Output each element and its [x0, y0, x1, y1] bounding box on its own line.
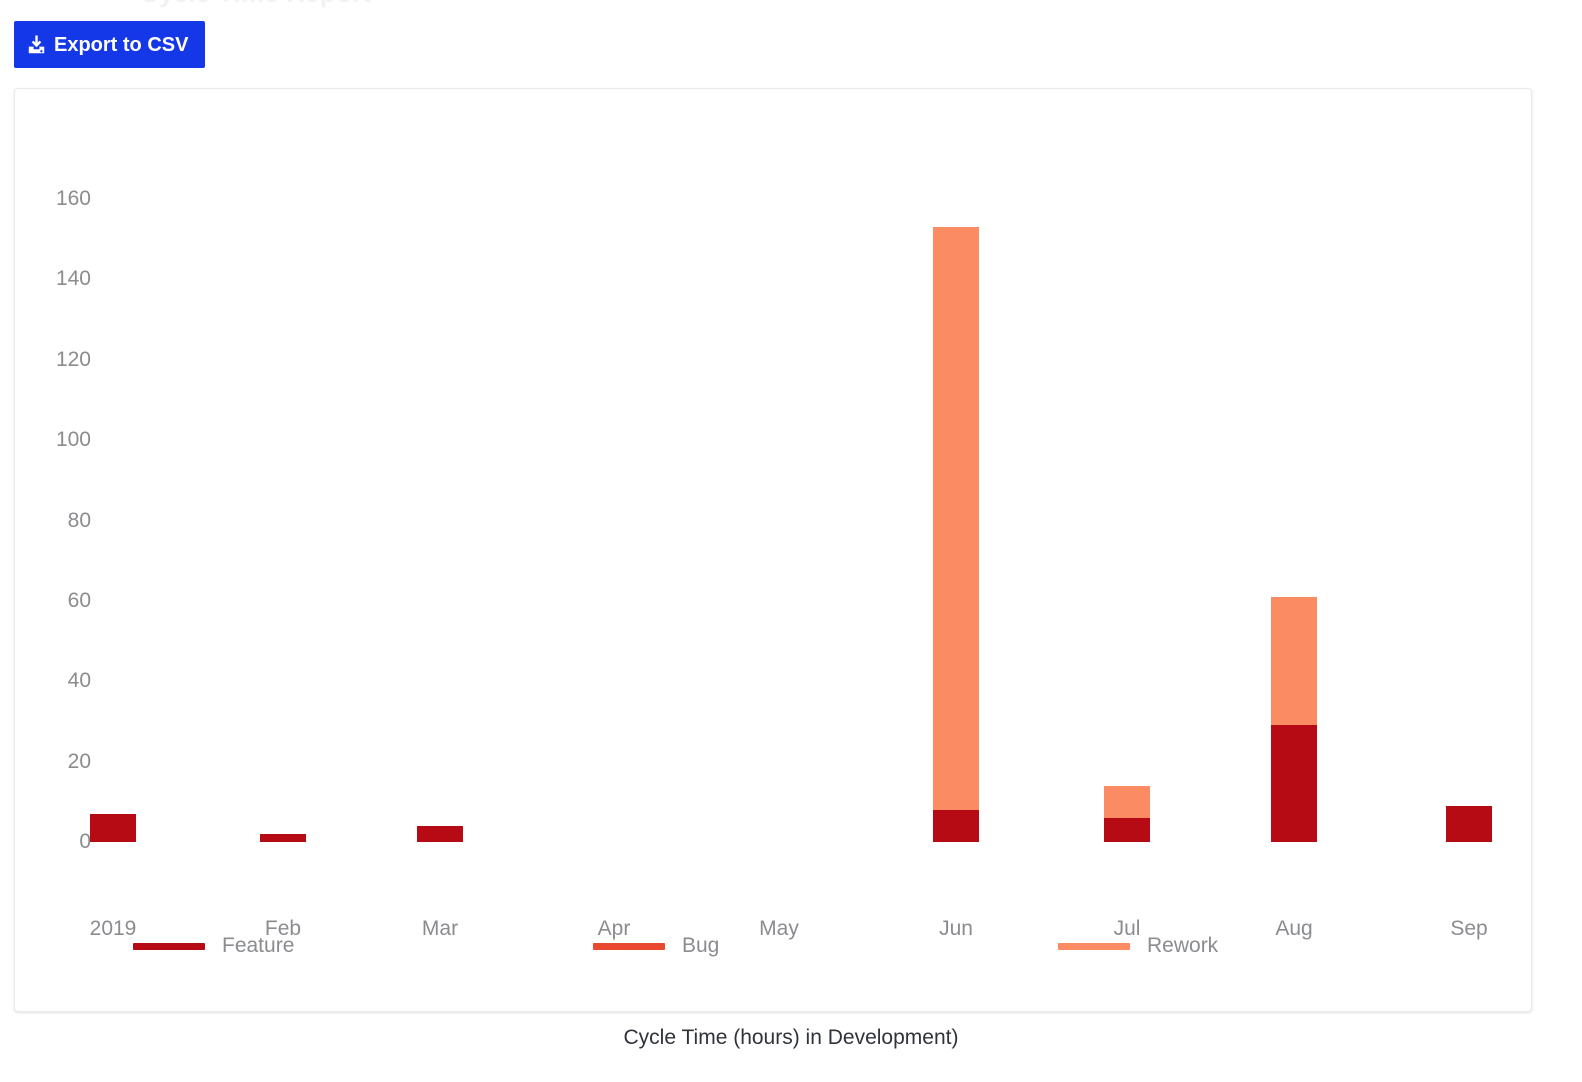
y-axis-tick-labels: 020406080100120140160	[15, 89, 91, 1013]
bar-segment-feature[interactable]	[260, 834, 306, 842]
bar-2019[interactable]	[90, 814, 136, 842]
y-axis-tick: 160	[15, 187, 91, 211]
y-axis-tick: 140	[15, 267, 91, 291]
legend-item-bug[interactable]: Bug	[593, 934, 719, 958]
y-axis-tick: 60	[15, 589, 91, 613]
legend-item-rework[interactable]: Rework	[1058, 934, 1218, 958]
bar-segment-feature[interactable]	[1271, 725, 1317, 842]
app-root: Cycle Time Report Export to CSV 02040608…	[0, 0, 1582, 1082]
chart-caption: Cycle Time (hours) in Development)	[0, 1026, 1582, 1050]
chart-card: 020406080100120140160 2019FebMarAprMayJu…	[14, 88, 1532, 1012]
bar-chart-plot: 020406080100120140160 2019FebMarAprMayJu…	[15, 89, 1533, 1013]
page-title: Cycle Time Report	[140, 0, 371, 8]
legend-label-rework: Rework	[1147, 934, 1218, 958]
bar-mar[interactable]	[417, 826, 463, 842]
export-to-csv-label: Export to CSV	[54, 35, 188, 55]
legend-label-feature: Feature	[222, 934, 294, 958]
bar-feb[interactable]	[260, 834, 306, 842]
legend-swatch-bug	[593, 943, 665, 950]
legend-label-bug: Bug	[682, 934, 719, 958]
bar-segment-feature[interactable]	[417, 826, 463, 842]
bar-sep[interactable]	[1446, 806, 1492, 842]
bar-aug[interactable]	[1271, 597, 1317, 842]
bar-jul[interactable]	[1104, 786, 1150, 842]
chart-legend: FeatureBugRework	[15, 934, 1533, 994]
legend-swatch-rework	[1058, 943, 1130, 950]
y-axis-tick: 20	[15, 750, 91, 774]
legend-item-feature[interactable]: Feature	[133, 934, 294, 958]
bar-segment-rework[interactable]	[933, 227, 979, 810]
y-axis-tick: 100	[15, 428, 91, 452]
bar-segment-feature[interactable]	[933, 810, 979, 842]
bar-segment-feature[interactable]	[90, 814, 136, 842]
y-axis-tick: 40	[15, 669, 91, 693]
bar-segment-feature[interactable]	[1104, 818, 1150, 842]
bar-segment-rework[interactable]	[1271, 597, 1317, 726]
bar-jun[interactable]	[933, 227, 979, 842]
legend-swatch-feature	[133, 943, 205, 950]
clipped-header-strip: Cycle Time Report	[0, 0, 1582, 8]
bar-segment-feature[interactable]	[1446, 806, 1492, 842]
download-icon	[28, 35, 45, 54]
export-to-csv-button[interactable]: Export to CSV	[14, 21, 205, 68]
y-axis-tick: 120	[15, 348, 91, 372]
y-axis-tick: 0	[15, 830, 91, 854]
y-axis-tick: 80	[15, 509, 91, 533]
bar-segment-rework[interactable]	[1104, 786, 1150, 818]
